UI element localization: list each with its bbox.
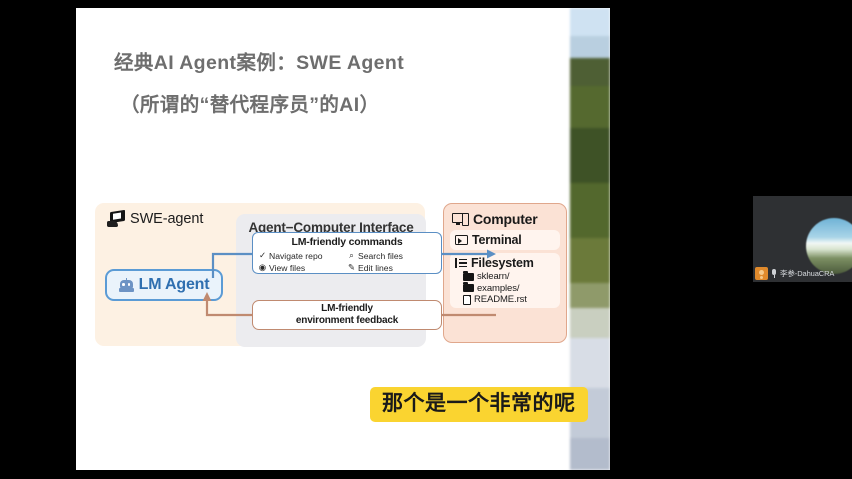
lm-agent-label: LM Agent (139, 276, 210, 294)
terminal-label: Terminal (472, 233, 522, 247)
command-label: Edit lines (358, 263, 393, 273)
filesystem-entry: sklearn/ (463, 271, 555, 282)
filesystem-label: Filesystem (471, 256, 534, 270)
terminal-icon (455, 235, 468, 245)
filesystem-entry-name: README.rst (474, 294, 527, 305)
swe-agent-label: SWE-agent (130, 211, 203, 227)
robot-icon (119, 278, 134, 292)
feedback-line-1: LM-friendly (321, 303, 373, 315)
slide-title-line-1: 经典AI Agent案例：SWE Agent (114, 54, 554, 74)
command-label: Search files (358, 251, 403, 261)
computer-panel: Computer Terminal Filesystem (443, 203, 567, 343)
command-item-edit-lines: ✎ Edit lines (347, 262, 436, 273)
filesystem-entry-list: sklearn/ examples/ README.rst (455, 271, 555, 305)
participant-name-label: 李参-DahuaCRA (780, 268, 834, 279)
pencil-icon: ✎ (347, 262, 356, 273)
magnifier-icon: ⌕ (347, 250, 356, 261)
lm-agent-box: LM Agent (105, 269, 223, 301)
command-label: Navigate repo (269, 251, 323, 261)
swe-agent-header: SWE-agent (107, 211, 203, 227)
computer-header: Computer (444, 204, 566, 227)
command-item-view-files: ◉ View files (258, 262, 347, 273)
page-title: 经典AI Agent案例：SWE Agent （所谓的“替代程序员”的AI） (114, 54, 554, 115)
filesystem-entry-name: examples/ (477, 283, 519, 294)
filesystem-header: Filesystem (455, 256, 555, 270)
folder-icon (463, 273, 474, 281)
commands-list: ✓ Navigate repo ⌕ Search files ◉ View fi… (253, 248, 441, 273)
lm-friendly-environment-feedback-box: LM-friendly environment feedback (252, 300, 442, 330)
terminal-header: Terminal (455, 233, 555, 247)
check-arrow-icon: ✓ (258, 250, 267, 261)
desktop-computer-icon (452, 213, 469, 226)
command-item-navigate-repo: ✓ Navigate repo (258, 250, 347, 261)
meeting-stage: 经典AI Agent案例：SWE Agent （所谓的“替代程序员”的AI） S… (0, 0, 852, 479)
presentation-slide: 经典AI Agent案例：SWE Agent （所谓的“替代程序员”的AI） S… (76, 8, 610, 470)
eye-icon: ◉ (258, 262, 267, 273)
feedback-line-2: environment feedback (296, 315, 398, 327)
swe-agent-logo-icon (107, 211, 126, 227)
terminal-section: Terminal (450, 230, 560, 250)
subtitle-caption-text: 那个是一个非常的呢 (382, 392, 576, 415)
command-label: View files (269, 263, 305, 273)
subtitle-caption: 那个是一个非常的呢 (370, 387, 588, 422)
lm-friendly-commands-box: LM-friendly commands ✓ Navigate repo ⌕ S… (252, 232, 442, 274)
filesystem-entry: examples/ (463, 283, 555, 294)
filesystem-tree-icon (455, 258, 467, 269)
commands-box-title: LM-friendly commands (253, 236, 441, 248)
swe-agent-architecture-diagram: SWE-agent LM Agent Agent−Computer Interf… (95, 200, 590, 352)
file-icon (463, 295, 471, 305)
participant-video-tile[interactable]: 李参-DahuaCRA (753, 196, 852, 282)
avatar (806, 218, 852, 274)
filesystem-section: Filesystem sklearn/ examples/ (450, 253, 560, 308)
command-item-search-files: ⌕ Search files (347, 250, 436, 261)
filesystem-entry-name: sklearn/ (477, 271, 509, 282)
filesystem-entry: README.rst (463, 294, 555, 305)
computer-label: Computer (473, 211, 538, 227)
folder-icon (463, 284, 474, 292)
microphone-icon (771, 269, 777, 278)
slide-title-line-2: （所谓的“替代程序员”的AI） (114, 96, 554, 116)
participant-name-bar: 李参-DahuaCRA (755, 267, 834, 280)
user-avatar-badge-icon (755, 267, 768, 280)
